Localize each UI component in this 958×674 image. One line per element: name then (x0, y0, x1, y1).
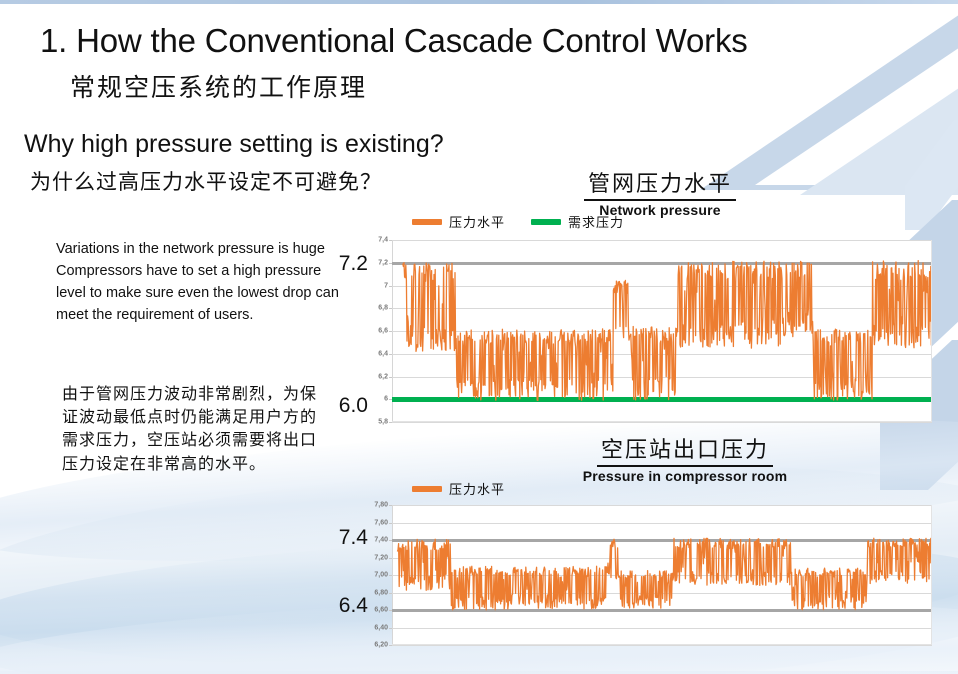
chart1-legend-label-0: 压力水平 (449, 212, 505, 231)
plot-frame (392, 505, 932, 645)
chart1-legend-label-1: 需求压力 (568, 212, 624, 231)
legend-swatch-icon (412, 219, 442, 225)
chart1-legend: 压力水平 需求压力 (412, 212, 624, 231)
top-accent-bar (0, 0, 958, 4)
chart2-plot-area: 7,807,607,407,207,006,806,606,406,20 (392, 505, 932, 645)
plot-frame (392, 240, 932, 422)
chart1-annotation-0: 7.2 (320, 252, 368, 276)
y-axis-tick-label: 7,20 (374, 554, 388, 561)
y-axis-tick-label: 7,2 (378, 259, 388, 266)
y-axis-tick-label: 6,4 (378, 350, 388, 357)
legend-swatch-icon (412, 486, 442, 492)
chart2-legend-item-0: 压力水平 (412, 479, 505, 498)
section-subtitle-chinese: 为什么过高压力水平设定不可避免？ (30, 166, 382, 196)
chart2-title: 空压站出口压力 Pressure in compressor room (545, 432, 825, 484)
y-axis-tick-label: 6,80 (374, 589, 388, 596)
decor-triangle-2 (755, 0, 958, 185)
chart1-legend-item-1: 需求压力 (531, 212, 624, 231)
chart2-legend-label-0: 压力水平 (449, 479, 505, 498)
chart2-title-chinese: 空压站出口压力 (597, 432, 773, 467)
section-subtitle: Why high pressure setting is existing? (24, 130, 444, 159)
y-axis-tick-label: 7,4 (378, 237, 388, 244)
chart1-legend-item-0: 压力水平 (412, 212, 505, 231)
y-axis-tick-label: 6,60 (374, 607, 388, 614)
y-axis-tick-label: 7 (384, 282, 388, 289)
chart1-annotation-1: 6.0 (320, 394, 368, 418)
y-axis-tick-label: 6,8 (378, 305, 388, 312)
y-axis-tick-label: 6,6 (378, 328, 388, 335)
y-axis-tick-label: 6 (384, 396, 388, 403)
decor-chevron-0 (905, 120, 958, 230)
chart1-title: 管网压力水平 Network pressure (540, 166, 780, 218)
chart2-title-english: Pressure in compressor room (545, 468, 825, 484)
y-axis-tick-label: 7,60 (374, 519, 388, 526)
y-axis-tick-label: 6,40 (374, 624, 388, 631)
y-axis-tick-label: 5,8 (378, 419, 388, 426)
chart1-plot-area: 7,47,276,86,66,46,265,8 (392, 240, 932, 422)
y-axis-tick-label: 7,40 (374, 537, 388, 544)
decor-triangle-3 (800, 20, 958, 195)
chart2-annotation-0: 7.4 (320, 526, 368, 550)
page-title-chinese: 常规空压系统的工作原理 (70, 68, 367, 104)
gridline (392, 645, 932, 646)
y-axis-tick-label: 7,80 (374, 502, 388, 509)
y-axis-tick-label: 6,20 (374, 642, 388, 649)
body-text-chinese: 由于管网压力波动非常剧烈，为保证波动最低点时仍能满足用户方的需求压力，空压站必须… (62, 382, 332, 475)
y-axis-tick (389, 422, 392, 423)
y-axis-tick-label: 7,00 (374, 572, 388, 579)
chart2-legend: 压力水平 (412, 479, 505, 498)
y-axis-tick (389, 645, 392, 646)
chart2-annotation-1: 6.4 (320, 594, 368, 618)
legend-swatch-icon (531, 219, 561, 225)
slide: 1. How the Conventional Cascade Control … (0, 0, 958, 674)
body-text-english: Variations in the network pressure is hu… (56, 238, 346, 326)
page-title: 1. How the Conventional Cascade Control … (40, 22, 748, 60)
chart1-title-chinese: 管网压力水平 (584, 166, 736, 201)
y-axis-tick-label: 6,2 (378, 373, 388, 380)
gridline (392, 422, 932, 423)
